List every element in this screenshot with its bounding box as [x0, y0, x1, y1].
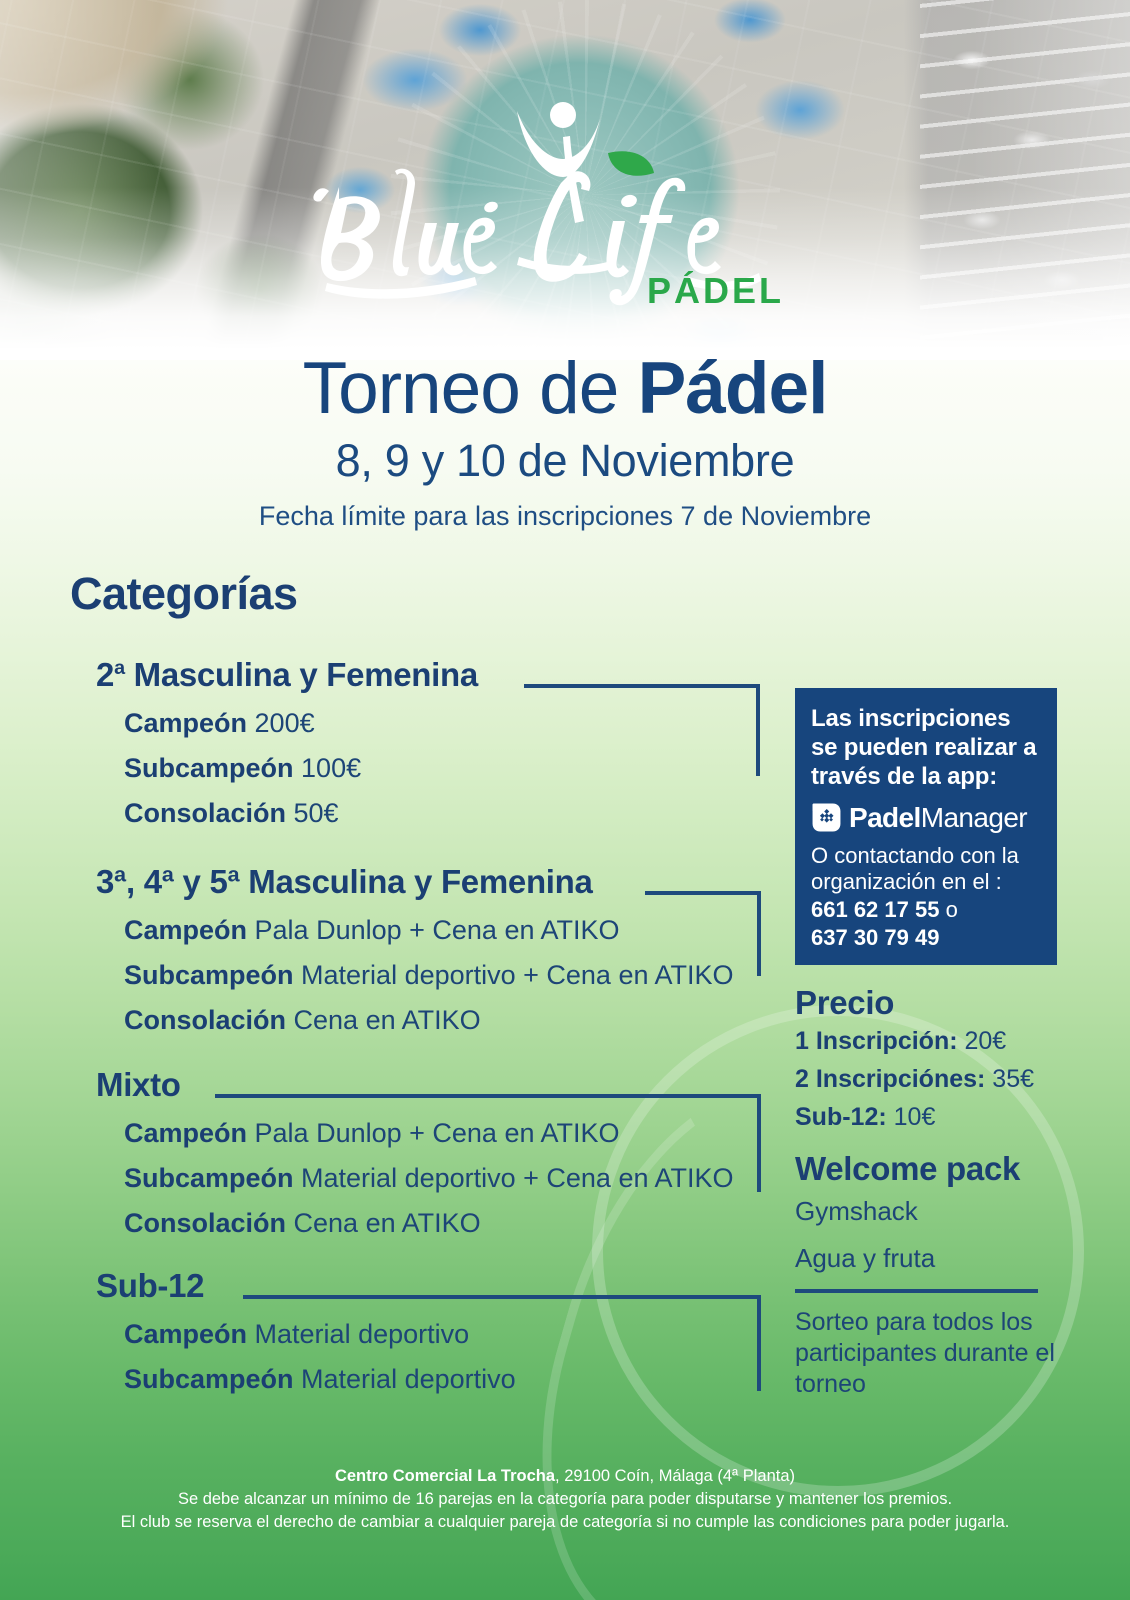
title-block: Torneo de Pádel 8, 9 y 10 de Noviembre F… [0, 348, 1130, 534]
prize-label: Campeón [124, 915, 247, 945]
category-ordinal: a [114, 657, 125, 679]
footer-note-1: Se debe alcanzar un mínimo de 16 parejas… [0, 1488, 1130, 1511]
prize-label: Campeón [124, 708, 247, 738]
prize-value: 100€ [294, 753, 362, 783]
prize-value: Cena en ATIKO [286, 1208, 481, 1238]
footer-venue-address: , 29100 Coín, Málaga (4ª Planta) [555, 1467, 795, 1485]
category-name-rest: Masculina y Femenina [125, 656, 478, 693]
phone-1[interactable]: 661 62 17 55 [811, 897, 939, 922]
phone-1-row: 661 62 17 55 o [811, 897, 1043, 923]
signup-title: Las inscripciones se pueden realizar a t… [811, 704, 1043, 791]
price-label: Sub-12: [795, 1103, 887, 1131]
registration-deadline: Fecha límite para las inscripciones 7 de… [0, 498, 1130, 534]
footer: Centro Comercial La Trocha, 29100 Coín, … [0, 1465, 1130, 1534]
category-bracket [215, 1094, 765, 1192]
prize-label: Consolación [124, 1005, 286, 1035]
padelmanager-name: PadelManager [849, 803, 1027, 833]
footer-note-2: El club se reserva el derecho de cambiar… [0, 1511, 1130, 1534]
price-value: 10€ [887, 1103, 936, 1131]
pricing-title: Precio [795, 984, 1057, 1022]
footer-venue: Centro Comercial La Trocha, 29100 Coín, … [0, 1465, 1130, 1488]
padelmanager-light: Manager [921, 802, 1027, 833]
phone-separator: o [939, 897, 957, 922]
poster-root: PÁDEL Torneo de Pádel 8, 9 y 10 de Novie… [0, 0, 1130, 1600]
contact-line: O contactando con la organización en el … [811, 843, 1043, 895]
page-title: Torneo de Pádel [0, 348, 1130, 430]
price-value: 20€ [958, 1027, 1007, 1055]
title-regular: Torneo de [303, 348, 638, 429]
prize-value: Pala Dunlop + Cena en ATIKO [247, 915, 619, 945]
category-bracket [524, 684, 764, 776]
prize-label: Consolación [124, 798, 286, 828]
prize-value: 200€ [247, 708, 315, 738]
price-row: Sub-12: 10€ [795, 1098, 1057, 1136]
welcome-pack-title: Welcome pack [795, 1150, 1057, 1188]
category-number: 2 [96, 656, 114, 693]
category-bracket [243, 1295, 765, 1391]
event-dates: 8, 9 y 10 de Noviembre [0, 434, 1130, 488]
blue-life-logo: PÁDEL [0, 95, 1130, 325]
prize-value: Cena en ATIKO [286, 1005, 481, 1035]
blue-life-logo-svg: PÁDEL [295, 95, 835, 310]
prize-label: Subcampeón [124, 753, 294, 783]
right-column-divider [795, 1289, 1038, 1293]
padelmanager-bold: Padel [849, 802, 921, 833]
price-row: 1 Inscripción: 20€ [795, 1022, 1057, 1060]
signup-box: Las inscripciones se pueden realizar a t… [795, 688, 1057, 965]
prize-label: Subcampeón [124, 960, 294, 990]
price-label: 1 Inscripción: [795, 1027, 958, 1055]
welcome-pack-item: Agua y fruta [795, 1235, 1057, 1282]
price-value: 35€ [985, 1065, 1034, 1093]
right-column: Las inscripciones se pueden realizar a t… [795, 688, 1057, 1400]
welcome-pack-item: Gymshack [795, 1188, 1057, 1235]
raffle-note: Sorteo para todos los participantes dura… [795, 1307, 1057, 1400]
padelmanager-mark-icon [811, 802, 842, 833]
footer-venue-name: Centro Comercial La Trocha [335, 1467, 555, 1485]
categories-heading: Categorías [70, 568, 298, 620]
category-bracket [645, 891, 765, 976]
prize-label: Consolación [124, 1208, 286, 1238]
price-label: 2 Inscripciónes: [795, 1065, 985, 1093]
prize-value: 50€ [286, 798, 339, 828]
price-row: 2 Inscripciónes: 35€ [795, 1060, 1057, 1098]
padelmanager-logo[interactable]: PadelManager [811, 802, 1043, 833]
logo-padel-text: PÁDEL [647, 270, 784, 310]
phone-2-row: 637 30 79 49 [811, 925, 1043, 951]
phone-2[interactable]: 637 30 79 49 [811, 925, 939, 950]
title-bold: Pádel [638, 348, 828, 429]
prize-label: Campeón [124, 1319, 247, 1349]
